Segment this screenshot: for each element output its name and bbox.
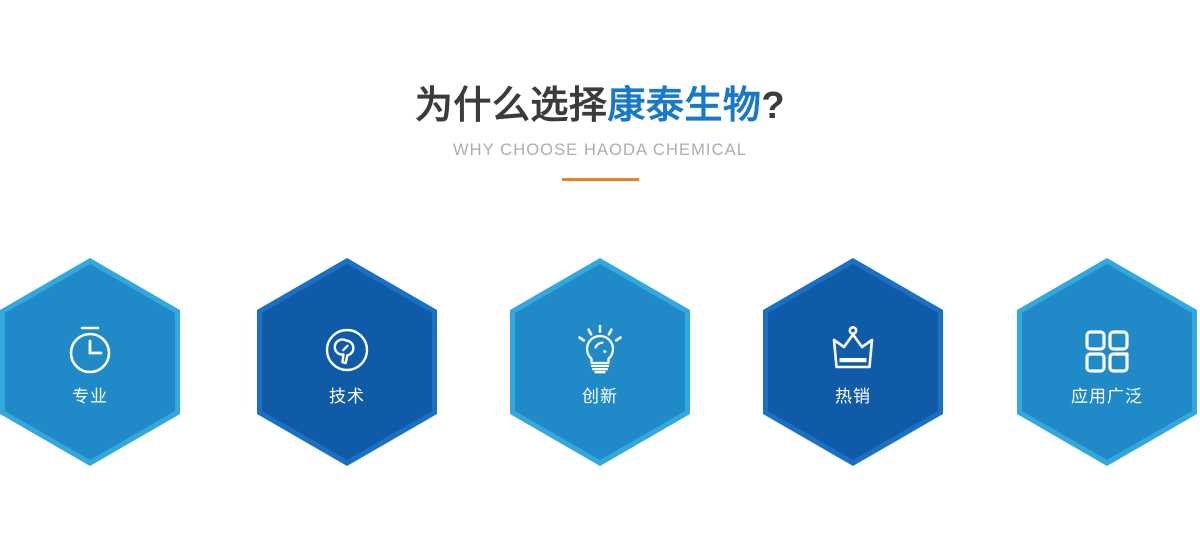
title-divider [562, 178, 639, 181]
hexagon-content: 热销 [763, 258, 943, 466]
wrench-circle-icon [317, 320, 377, 380]
hexagon-label: 应用广泛 [1071, 388, 1143, 405]
page-title: 为什么选择康泰生物? [0, 86, 1200, 127]
page-title-prefix: 为什么选择 [415, 85, 608, 127]
title-divider-wrap [0, 178, 1200, 182]
section-header: 为什么选择康泰生物? WHY CHOOSE HAODA CHEMICAL [0, 0, 1200, 182]
page-title-accent: 康泰生物 [607, 85, 761, 127]
hexagon-label: 专业 [72, 388, 108, 405]
hexagon-content: 应用广泛 [1017, 258, 1197, 466]
crown-icon [823, 320, 883, 380]
page-title-suffix: ? [761, 85, 785, 127]
hexagon-content: 技术 [257, 258, 437, 466]
feature-hexagon-technology[interactable]: 技术 [257, 258, 437, 466]
hexagon-content: 专业 [0, 258, 180, 466]
feature-hexagon-professional[interactable]: 专业 [0, 258, 180, 466]
feature-hexagon-wide-application[interactable]: 应用广泛 [1017, 258, 1197, 466]
feature-hexagon-row: 专业 技术 [0, 258, 1200, 470]
stopwatch-icon [60, 320, 120, 380]
feature-hexagon-innovation[interactable]: 创新 [510, 258, 690, 466]
lightbulb-icon [570, 320, 630, 380]
page-subtitle: WHY CHOOSE HAODA CHEMICAL [0, 141, 1200, 160]
hexagon-label: 热销 [835, 388, 871, 405]
hexagon-content: 创新 [510, 258, 690, 466]
grid-squares-icon [1077, 320, 1137, 380]
feature-hexagon-bestseller[interactable]: 热销 [763, 258, 943, 466]
hexagon-label: 创新 [582, 388, 618, 405]
hexagon-label: 技术 [329, 388, 365, 405]
